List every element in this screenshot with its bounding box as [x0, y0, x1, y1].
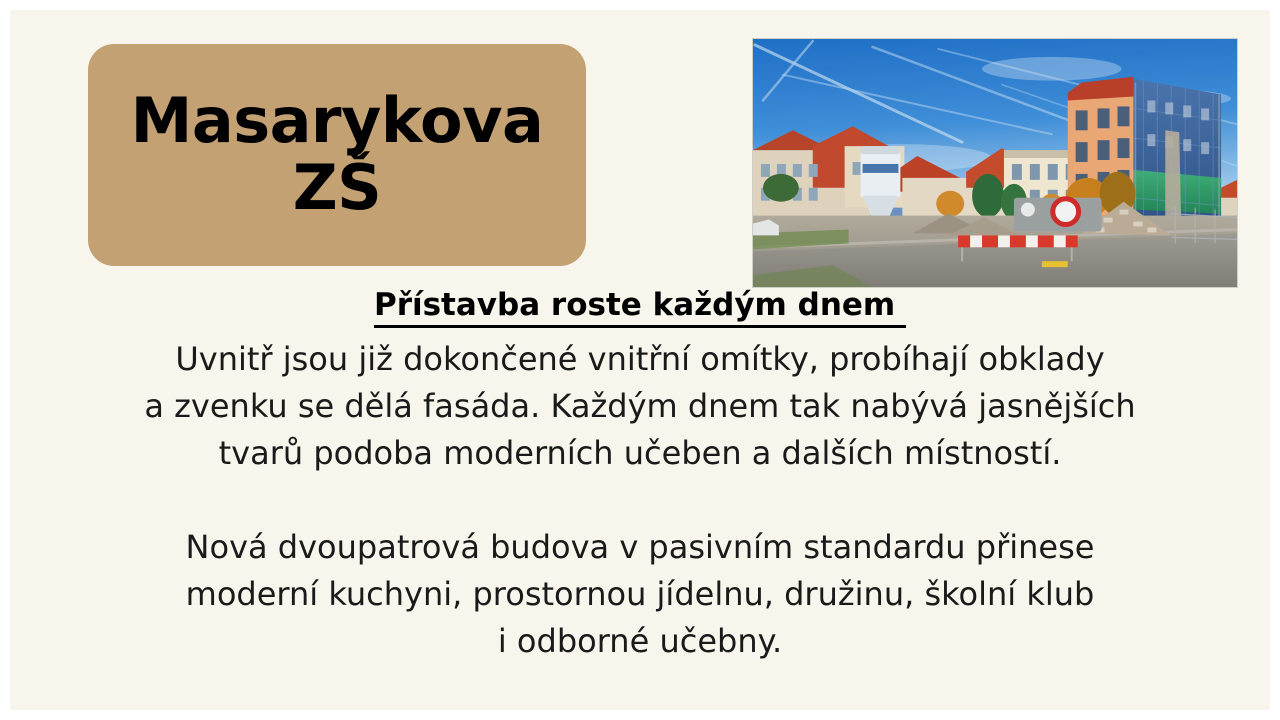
paragraph-spacer [10, 477, 1270, 524]
body-text-block: Přístavba roste každým dnem Uvnitř jsou … [10, 282, 1270, 665]
title-plaque: Masarykova ZŠ [88, 44, 586, 266]
body-heading-underlined-text: Přístavba roste každým dnem [374, 287, 906, 328]
construction-photo-image [753, 39, 1237, 287]
slide-canvas: Masarykova ZŠ [10, 10, 1270, 710]
construction-photo [752, 38, 1238, 288]
body-heading: Přístavba roste každým dnem [10, 282, 1270, 328]
body-paragraph-2: Nová dvoupatrová budova v pasivním stand… [10, 524, 1270, 665]
school-title: Masarykova ZŠ [131, 88, 544, 222]
body-paragraph-1: Uvnitř jsou již dokončené vnitřní omítky… [10, 336, 1270, 477]
